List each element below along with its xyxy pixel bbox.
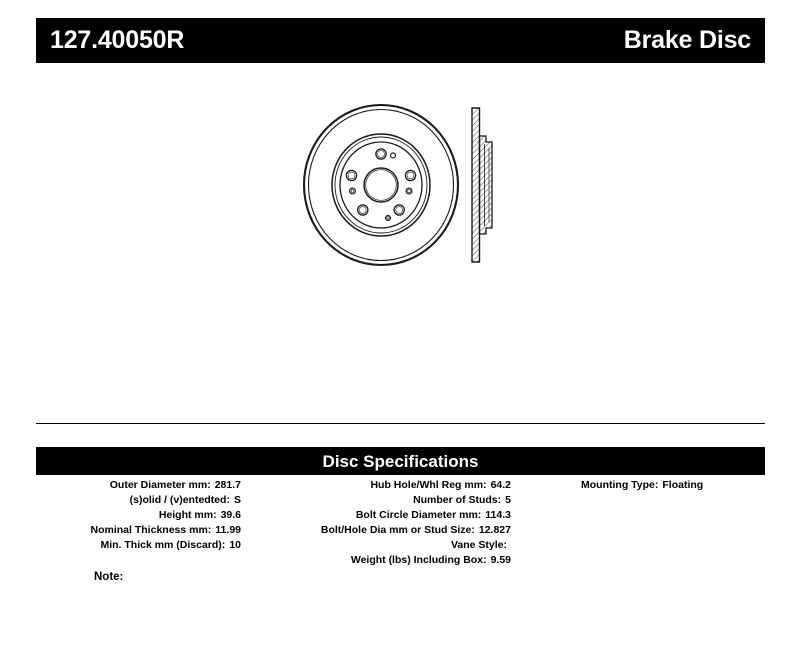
spec-value: 64.2 — [491, 478, 511, 493]
spec-label: Vane Style: — [451, 538, 507, 553]
brake-rotor-front-view — [304, 105, 458, 265]
spec-label: Min. Thick mm (Discard): — [100, 538, 225, 553]
spec-row: Mounting Type:Floating — [541, 478, 765, 493]
spec-row: (s)olid / (v)entedted:S — [36, 493, 241, 508]
spec-row: Bolt Circle Diameter mm:114.3 — [261, 508, 511, 523]
spec-label: Nominal Thickness mm: — [91, 523, 212, 538]
disc-specifications-title: Disc Specifications — [323, 453, 479, 470]
note-label: Note: — [94, 570, 123, 585]
spec-value: 39.6 — [221, 508, 241, 523]
spec-column-left: Outer Diameter mm:281.7(s)olid / (v)ente… — [36, 478, 241, 553]
spec-label: (s)olid / (v)entedted: — [130, 493, 230, 508]
spec-label: Hub Hole/Whl Reg mm: — [370, 478, 486, 493]
spec-label: Bolt Circle Diameter mm: — [356, 508, 481, 523]
spec-value: 11.99 — [215, 523, 241, 538]
spec-value: 5 — [505, 493, 511, 508]
spec-row: Min. Thick mm (Discard):10 — [36, 538, 241, 553]
spec-row: Outer Diameter mm:281.7 — [36, 478, 241, 493]
spec-label: Weight (lbs) Including Box: — [351, 553, 487, 568]
spec-label: Number of Studs: — [413, 493, 501, 508]
note-block: Note: — [94, 570, 129, 585]
spec-label: Mounting Type: — [581, 478, 658, 493]
part-number: 127.40050R — [50, 28, 184, 53]
spec-value: S — [234, 493, 241, 508]
spec-row: Hub Hole/Whl Reg mm:64.2 — [261, 478, 511, 493]
specifications-table: Outer Diameter mm:281.7(s)olid / (v)ente… — [36, 478, 765, 588]
spec-value: 9.59 — [491, 553, 511, 568]
disc-specifications-title-bar: Disc Specifications — [36, 447, 765, 475]
section-divider — [36, 423, 765, 424]
spec-row: Nominal Thickness mm:11.99 — [36, 523, 241, 538]
spec-column-middle: Hub Hole/Whl Reg mm:64.2Number of Studs:… — [261, 478, 511, 568]
spec-row: Vane Style: — [261, 538, 511, 553]
spec-value: 114.3 — [485, 508, 511, 523]
spec-column-right: Mounting Type:Floating — [541, 478, 765, 493]
spec-value: 12.827 — [479, 523, 511, 538]
spec-row: Number of Studs:5 — [261, 493, 511, 508]
spec-value: Floating — [662, 478, 703, 493]
product-type: Brake Disc — [624, 28, 751, 53]
spec-row: Weight (lbs) Including Box:9.59 — [261, 553, 511, 568]
brake-rotor-side-section-view — [472, 108, 492, 262]
spec-row: Bolt/Hole Dia mm or Stud Size:12.827 — [261, 523, 511, 538]
spec-label: Outer Diameter mm: — [110, 478, 211, 493]
spec-value: 281.7 — [215, 478, 241, 493]
spec-label: Bolt/Hole Dia mm or Stud Size: — [321, 523, 475, 538]
header-bar: 127.40050R Brake Disc — [36, 18, 765, 63]
spec-value: 10 — [229, 538, 241, 553]
brake-disc-illustration — [296, 98, 516, 278]
spec-row: Height mm:39.6 — [36, 508, 241, 523]
spec-label: Height mm: — [159, 508, 217, 523]
